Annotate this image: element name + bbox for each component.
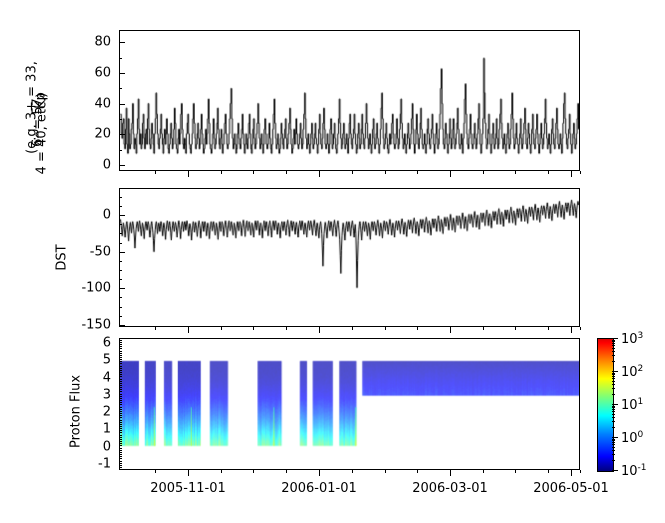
colorbar-tick-minor bbox=[612, 341, 615, 342]
x-tick-minor bbox=[286, 470, 287, 473]
y-tick bbox=[119, 342, 122, 343]
x-tick-minor bbox=[352, 327, 353, 330]
xtick-label: 2006-01-01 bbox=[281, 482, 357, 495]
y-tick bbox=[119, 104, 125, 105]
y-tick bbox=[119, 435, 122, 436]
x-tick-minor bbox=[155, 171, 156, 174]
y-tick bbox=[119, 206, 122, 207]
colorbar-tick-major bbox=[612, 371, 618, 372]
y-tick bbox=[119, 454, 122, 455]
x-tick-minor bbox=[483, 327, 484, 330]
x-tick-major bbox=[450, 171, 451, 177]
x-tick-major bbox=[571, 327, 572, 333]
x-tick-minor bbox=[417, 327, 418, 330]
y-tick bbox=[119, 391, 122, 392]
x-tick-minor bbox=[221, 171, 222, 174]
y-tick bbox=[119, 396, 122, 397]
xtick-label: 2005-11-01 bbox=[150, 482, 226, 495]
colorbar-tick-minor bbox=[612, 444, 615, 445]
colorbar-tick-minor bbox=[612, 381, 615, 382]
y-tick bbox=[119, 402, 122, 403]
kp-axis-title-line4: 4 = 40, etc.) bbox=[35, 93, 50, 175]
x-tick-major bbox=[188, 327, 189, 333]
ytick-label: 60 bbox=[73, 66, 111, 79]
x-tick-major bbox=[571, 470, 572, 476]
x-tick-minor bbox=[253, 327, 254, 330]
proton-flux-spectrogram-canvas bbox=[120, 339, 579, 469]
proton-flux-colorbar bbox=[597, 338, 614, 472]
y-tick bbox=[119, 407, 122, 408]
x-tick-major bbox=[319, 327, 320, 333]
y-tick bbox=[119, 379, 122, 380]
y-tick bbox=[119, 359, 122, 360]
colorbar-tick-minor bbox=[612, 411, 615, 412]
x-tick-minor bbox=[221, 327, 222, 330]
proton-axis-title: Proton Flux bbox=[69, 357, 84, 467]
y-tick bbox=[119, 134, 125, 135]
x-tick-minor bbox=[580, 470, 581, 473]
y-tick bbox=[119, 469, 122, 470]
x-tick-minor bbox=[580, 327, 581, 330]
colorbar-tick-major bbox=[612, 470, 618, 471]
colorbar-tick-minor bbox=[612, 409, 615, 410]
y-tick bbox=[119, 465, 122, 466]
x-tick-minor bbox=[352, 470, 353, 473]
y-tick bbox=[119, 398, 122, 399]
colorbar-tick-minor bbox=[612, 454, 615, 455]
y-tick bbox=[119, 441, 122, 442]
colorbar-tick-label: 10-1 bbox=[621, 462, 647, 478]
y-tick bbox=[119, 197, 122, 198]
y-tick bbox=[119, 325, 125, 326]
y-tick bbox=[119, 445, 122, 446]
dst-axis-title: DST bbox=[55, 228, 70, 288]
x-tick-major bbox=[450, 470, 451, 476]
y-tick bbox=[119, 413, 122, 414]
y-tick bbox=[119, 374, 122, 375]
colorbar-tick-minor bbox=[612, 447, 615, 448]
y-tick bbox=[119, 432, 122, 433]
x-tick-major bbox=[571, 171, 572, 177]
y-tick bbox=[119, 448, 122, 449]
y-tick bbox=[119, 366, 122, 367]
colorbar-tick-minor bbox=[612, 384, 615, 385]
colorbar-tick-major bbox=[612, 338, 618, 339]
y-tick bbox=[119, 270, 122, 271]
colorbar-tick-minor bbox=[612, 376, 615, 377]
ytick-label: -50 bbox=[73, 245, 111, 258]
colorbar-tick-label: 103 bbox=[621, 330, 643, 346]
y-tick bbox=[119, 150, 122, 151]
y-tick bbox=[119, 426, 122, 427]
y-tick bbox=[119, 261, 122, 262]
x-tick-major bbox=[450, 327, 451, 333]
y-tick bbox=[119, 443, 122, 444]
colorbar-tick-minor bbox=[612, 348, 615, 349]
y-tick bbox=[119, 437, 122, 438]
x-tick-major bbox=[319, 171, 320, 177]
colorbar-tick-minor bbox=[612, 440, 615, 441]
x-tick-minor bbox=[155, 470, 156, 473]
x-tick-minor bbox=[385, 171, 386, 174]
y-tick bbox=[119, 243, 122, 244]
y-tick bbox=[119, 383, 122, 384]
y-tick bbox=[119, 288, 125, 289]
x-tick-minor bbox=[483, 470, 484, 473]
colorbar-tick-minor bbox=[612, 417, 615, 418]
colorbar-tick-label: 102 bbox=[621, 363, 643, 379]
y-tick bbox=[119, 297, 122, 298]
x-tick-minor bbox=[515, 171, 516, 174]
y-tick bbox=[119, 389, 122, 390]
y-tick bbox=[119, 307, 122, 308]
y-tick bbox=[119, 411, 122, 412]
y-tick bbox=[119, 224, 122, 225]
y-tick bbox=[119, 452, 122, 453]
y-tick bbox=[119, 424, 122, 425]
y-tick bbox=[119, 372, 122, 373]
x-tick-minor bbox=[548, 470, 549, 473]
colorbar-tick-minor bbox=[612, 394, 615, 395]
x-tick-minor bbox=[548, 327, 549, 330]
y-tick bbox=[119, 456, 122, 457]
y-tick bbox=[119, 394, 122, 395]
x-tick-minor bbox=[417, 470, 418, 473]
y-tick bbox=[119, 119, 122, 120]
x-tick-major bbox=[188, 171, 189, 177]
y-tick bbox=[119, 363, 122, 364]
x-tick-minor bbox=[515, 470, 516, 473]
y-tick bbox=[119, 370, 122, 371]
colorbar-tick-minor bbox=[612, 388, 615, 389]
y-tick bbox=[119, 467, 122, 468]
y-tick bbox=[119, 422, 122, 423]
y-tick bbox=[119, 428, 122, 429]
x-tick-minor bbox=[286, 171, 287, 174]
colorbar-tick-minor bbox=[612, 414, 615, 415]
y-tick bbox=[119, 400, 122, 401]
y-tick bbox=[119, 316, 122, 317]
colorbar-tick-minor bbox=[612, 345, 615, 346]
y-tick bbox=[119, 346, 122, 347]
y-tick bbox=[119, 430, 122, 431]
y-tick bbox=[119, 404, 122, 405]
ytick-label: -150 bbox=[73, 318, 111, 331]
y-tick bbox=[119, 376, 122, 377]
dst-panel bbox=[119, 188, 580, 327]
x-tick-minor bbox=[286, 327, 287, 330]
x-tick-minor bbox=[580, 171, 581, 174]
y-tick bbox=[119, 357, 122, 358]
kp-axis-title-detail3: 4 = 40, etc.) bbox=[35, 54, 50, 214]
x-tick-major bbox=[188, 470, 189, 476]
colorbar-tick-minor bbox=[612, 343, 615, 344]
colorbar-tick-minor bbox=[612, 340, 615, 341]
y-tick bbox=[119, 385, 122, 386]
y-tick bbox=[119, 463, 122, 464]
y-tick bbox=[119, 351, 122, 352]
x-tick-minor bbox=[385, 327, 386, 330]
ytick-label: -100 bbox=[73, 282, 111, 295]
colorbar-tick-minor bbox=[612, 450, 615, 451]
ytick-label: 40 bbox=[73, 97, 111, 110]
y-tick bbox=[119, 233, 122, 234]
y-tick bbox=[119, 252, 125, 253]
kp-panel bbox=[119, 30, 580, 171]
y-tick bbox=[119, 340, 122, 341]
colorbar-tick-minor bbox=[612, 442, 615, 443]
y-tick bbox=[119, 415, 122, 416]
colorbar-tick-major bbox=[612, 437, 618, 438]
y-tick bbox=[119, 381, 122, 382]
colorbar-tick-minor bbox=[612, 351, 615, 352]
x-tick-minor bbox=[483, 171, 484, 174]
y-tick bbox=[119, 450, 122, 451]
colorbar-tick-minor bbox=[612, 421, 615, 422]
y-tick bbox=[119, 73, 125, 74]
x-tick-minor bbox=[417, 171, 418, 174]
ytick-label: 0 bbox=[73, 158, 111, 171]
kp-series-canvas bbox=[120, 31, 579, 170]
x-tick-minor bbox=[253, 470, 254, 473]
y-tick bbox=[119, 215, 125, 216]
y-tick bbox=[119, 368, 122, 369]
colorbar-tick-minor bbox=[612, 439, 615, 440]
ytick-label: 80 bbox=[73, 36, 111, 49]
colorbar-tick-minor bbox=[612, 406, 615, 407]
y-tick bbox=[119, 42, 125, 43]
y-tick bbox=[119, 420, 122, 421]
x-tick-minor bbox=[515, 327, 516, 330]
y-tick bbox=[119, 344, 122, 345]
x-tick-major bbox=[319, 470, 320, 476]
colorbar-tick-minor bbox=[612, 407, 615, 408]
y-tick bbox=[119, 279, 122, 280]
proton-flux-panel bbox=[119, 338, 580, 470]
colorbar-tick-minor bbox=[612, 374, 615, 375]
proton-axis-title-text: Proton Flux bbox=[69, 375, 84, 448]
x-tick-minor bbox=[155, 327, 156, 330]
y-tick bbox=[119, 58, 122, 59]
y-tick bbox=[119, 348, 122, 349]
y-tick bbox=[119, 461, 122, 462]
dst-axis-title-text: DST bbox=[55, 244, 70, 270]
x-tick-minor bbox=[221, 470, 222, 473]
xtick-label: 2006-03-01 bbox=[412, 482, 488, 495]
y-tick bbox=[119, 387, 122, 388]
y-tick bbox=[119, 353, 122, 354]
ytick-label: 0 bbox=[73, 209, 111, 222]
dst-series-canvas bbox=[120, 189, 579, 326]
y-tick bbox=[119, 361, 122, 362]
x-tick-minor bbox=[548, 171, 549, 174]
y-tick bbox=[119, 165, 125, 166]
colorbar-tick-label: 101 bbox=[621, 396, 643, 412]
y-tick bbox=[119, 88, 122, 89]
colorbar-tick-minor bbox=[612, 460, 615, 461]
y-tick bbox=[119, 458, 122, 459]
x-tick-minor bbox=[352, 171, 353, 174]
colorbar-tick-minor bbox=[612, 361, 615, 362]
colorbar-tick-label: 100 bbox=[621, 429, 643, 445]
ytick-label: 6 bbox=[73, 337, 111, 350]
x-tick-minor bbox=[385, 470, 386, 473]
colorbar-tick-minor bbox=[612, 355, 615, 356]
y-tick bbox=[119, 355, 122, 356]
colorbar-tick-major bbox=[612, 404, 618, 405]
figure-space-weather-timeseries: 020406080 Kp (e.g. 3+ = 33, 6- = 57, 4 =… bbox=[0, 0, 665, 523]
xtick-label: 2006-05-01 bbox=[533, 482, 609, 495]
colorbar-tick-minor bbox=[612, 378, 615, 379]
y-tick bbox=[119, 417, 122, 418]
ytick-label: 20 bbox=[73, 128, 111, 141]
x-tick-minor bbox=[253, 171, 254, 174]
colorbar-tick-minor bbox=[612, 427, 615, 428]
colorbar-tick-minor bbox=[612, 373, 615, 374]
y-tick bbox=[119, 409, 122, 410]
y-tick bbox=[119, 439, 122, 440]
